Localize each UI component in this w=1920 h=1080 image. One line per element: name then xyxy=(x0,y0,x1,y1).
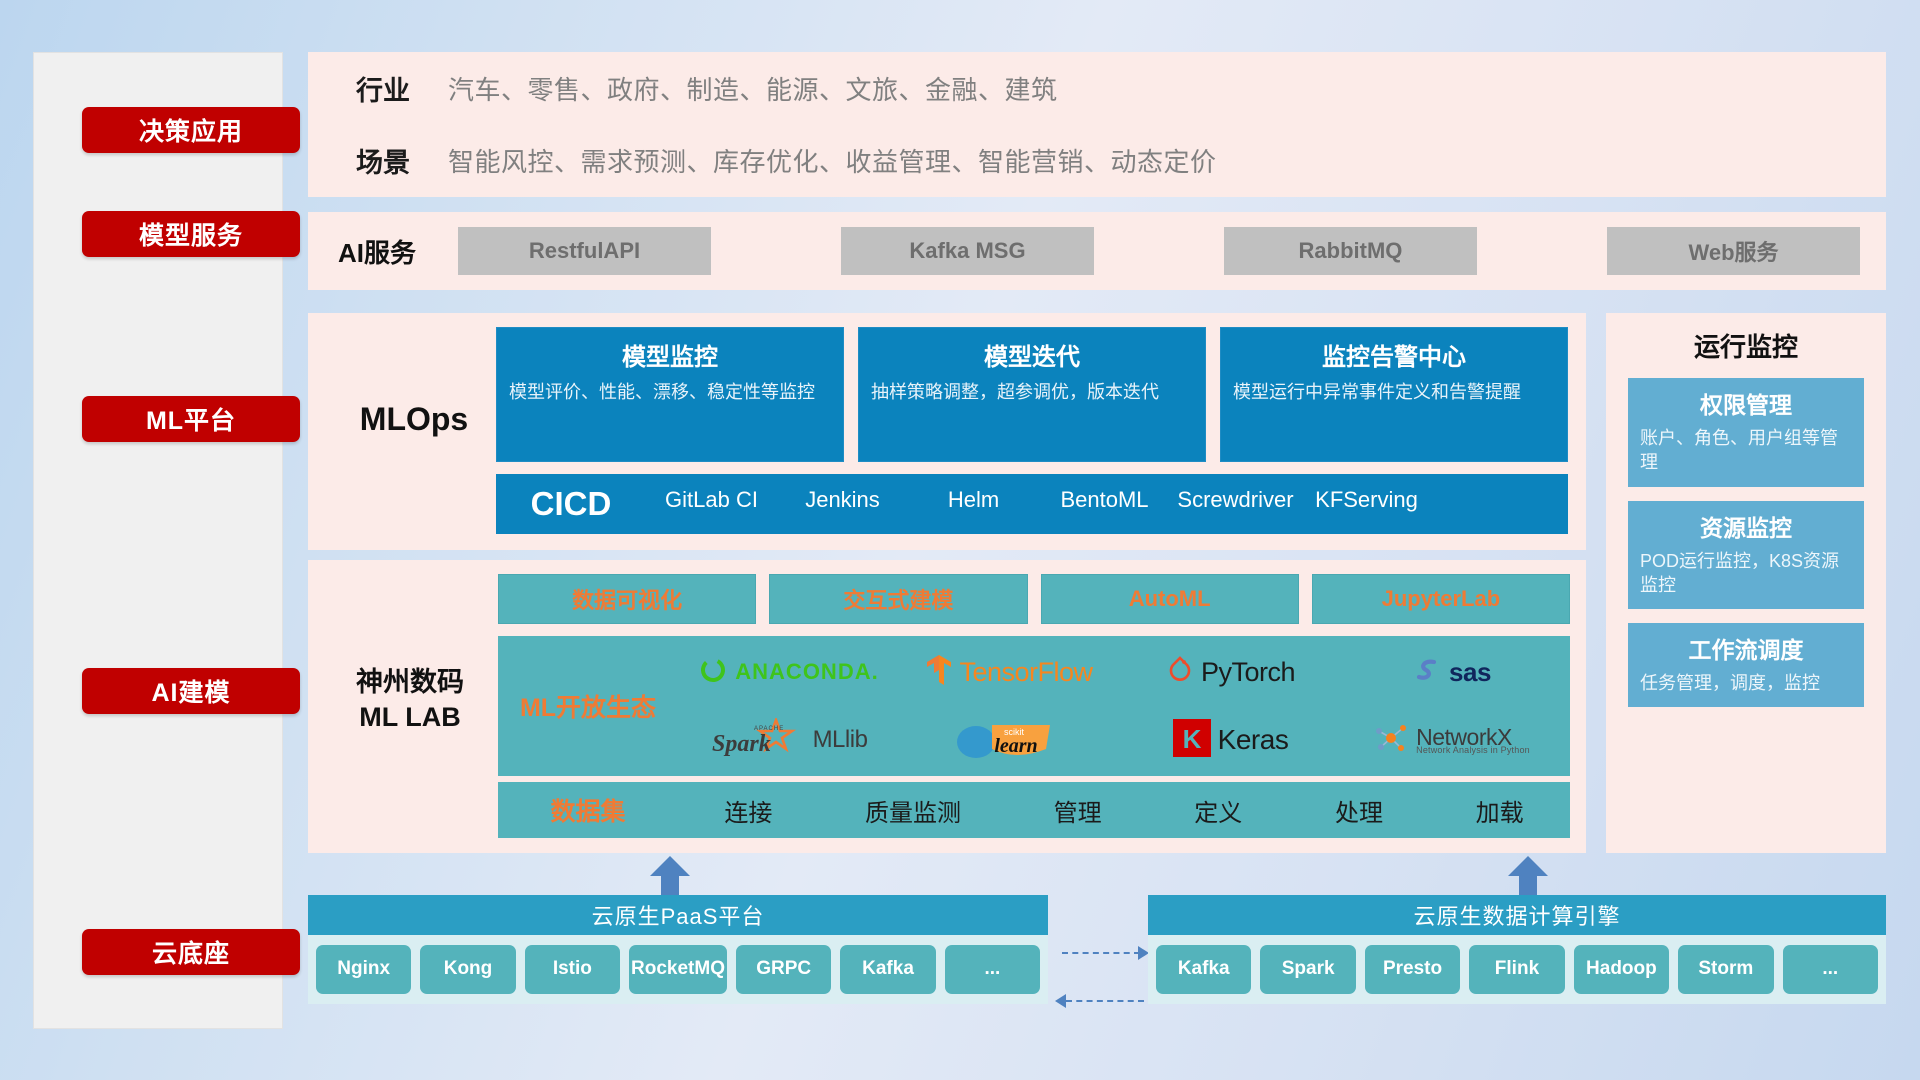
runtime-monitoring-panel: 运行监控 权限管理 账户、角色、用户组等管理 资源监控 POD运行监控，K8S资… xyxy=(1606,313,1886,853)
ai-service-label: AI服务 xyxy=(308,233,458,270)
rail-item-ml-platform[interactable]: ML平台 xyxy=(82,396,300,442)
industry-scenario-band: 行业 汽车、零售、政府、制造、能源、文旅、金融、建筑 场景 智能风控、需求预测、… xyxy=(308,52,1886,197)
dataset-item-connect[interactable]: 连接 xyxy=(724,793,772,828)
pytorch-icon xyxy=(1166,655,1194,690)
rail-item-ai-modeling[interactable]: AI建模 xyxy=(82,668,300,714)
card-desc: 抽样策略调整，超参调优，版本迭代 xyxy=(871,380,1193,404)
mlops-card-model-monitoring[interactable]: 模型监控 模型评价、性能、漂移、稳定性等监控 xyxy=(496,327,844,462)
svg-text:K: K xyxy=(1182,724,1201,754)
ml-lab-label-line2: ML LAB xyxy=(322,700,498,735)
dashed-arrow-left xyxy=(1055,994,1066,1008)
dataset-item-manage[interactable]: 管理 xyxy=(1054,793,1102,828)
chip-presto[interactable]: Presto xyxy=(1365,945,1460,994)
industry-row: 行业 汽车、零售、政府、制造、能源、文旅、金融、建筑 xyxy=(308,52,1886,124)
tensorflow-icon xyxy=(926,654,952,691)
chip-istio[interactable]: Istio xyxy=(525,945,620,994)
ml-ecosystem-label: ML开放生态 xyxy=(498,688,678,724)
pytorch-logo: PyTorch xyxy=(1166,655,1295,690)
card-desc: 模型评价、性能、漂移、稳定性等监控 xyxy=(509,380,831,404)
sas-text: sas xyxy=(1449,657,1491,688)
card-title: 模型迭代 xyxy=(871,337,1193,372)
dataset-item-process[interactable]: 处理 xyxy=(1335,793,1383,828)
spark-icon: APACHE Spark xyxy=(710,718,806,763)
architecture-diagram: 决策应用 模型服务 ML平台 AI建模 云底座 行业 汽车、零售、政府、制造、能… xyxy=(0,0,1920,1080)
card-title: 权限管理 xyxy=(1640,386,1852,420)
cicd-item-helm[interactable]: Helm xyxy=(908,474,1039,514)
cicd-item-bentoml[interactable]: BentoML xyxy=(1039,474,1170,514)
industry-values: 汽车、零售、政府、制造、能源、文旅、金融、建筑 xyxy=(448,70,1058,107)
cicd-row: CICD GitLab CI Jenkins Helm BentoML Scre… xyxy=(496,474,1568,534)
cicd-item-screwdriver[interactable]: Screwdriver xyxy=(1170,474,1301,514)
tab-data-visualization[interactable]: 数据可视化 xyxy=(498,574,756,624)
ai-modeling-band: 神州数码 ML LAB 数据可视化 交互式建模 AutoML JupyterLa… xyxy=(308,560,1586,853)
card-title: 工作流调度 xyxy=(1640,631,1852,665)
svg-text:Spark: Spark xyxy=(712,731,771,757)
spark-mllib-logo: APACHE Spark MLlib xyxy=(710,718,868,763)
dashed-line-right xyxy=(1062,952,1140,954)
dataset-row: 数据集 连接 质量监测 管理 定义 处理 加载 xyxy=(498,782,1570,838)
ml-lab-label-line1: 神州数码 xyxy=(322,665,498,700)
anaconda-text: ANACONDA. xyxy=(735,659,878,685)
ml-ecosystem-logo-group: ANACONDA. TensorFlow xyxy=(678,638,1570,774)
chip-hadoop[interactable]: Hadoop xyxy=(1574,945,1669,994)
card-desc: 任务管理，调度，监控 xyxy=(1640,671,1852,695)
networkx-tagline: Network Analysis in Python xyxy=(1416,746,1530,755)
keras-logo: K Keras xyxy=(1173,719,1289,762)
card-desc: 账户、角色、用户组等管理 xyxy=(1640,426,1852,475)
dataset-label: 数据集 xyxy=(498,792,678,828)
service-box-rabbitmq[interactable]: RabbitMQ xyxy=(1224,227,1477,275)
chip-rocketmq[interactable]: RocketMQ xyxy=(629,945,727,994)
industry-label: 行业 xyxy=(308,69,448,108)
ai-service-box-group: RestfulAPI Kafka MSG RabbitMQ Web服务 xyxy=(458,227,1886,275)
networkx-icon xyxy=(1373,721,1409,760)
scikit-learn-logo: scikit learn xyxy=(954,715,1066,766)
chip-flink[interactable]: Flink xyxy=(1469,945,1564,994)
cloud-paas-chip-group: Nginx Kong Istio RocketMQ GRPC Kafka ... xyxy=(308,935,1048,1004)
scenario-label: 场景 xyxy=(308,141,448,180)
dataset-item-quality[interactable]: 质量监测 xyxy=(865,793,961,828)
cicd-item-gitlab-ci[interactable]: GitLab CI xyxy=(646,474,777,514)
card-desc: POD运行监控，K8S资源监控 xyxy=(1640,549,1852,598)
cicd-item-jenkins[interactable]: Jenkins xyxy=(777,474,908,514)
cicd-label: CICD xyxy=(496,474,646,534)
mlops-card-alert-center[interactable]: 监控告警中心 模型运行中异常事件定义和告警提醒 xyxy=(1220,327,1568,462)
scenario-values: 智能风控、需求预测、库存优化、收益管理、智能营销、动态定价 xyxy=(448,142,1217,179)
keras-icon: K xyxy=(1173,719,1211,762)
rail-item-decision-app[interactable]: 决策应用 xyxy=(82,107,300,153)
dataset-item-group: 连接 质量监测 管理 定义 处理 加载 xyxy=(678,793,1570,828)
monitor-card-permission[interactable]: 权限管理 账户、角色、用户组等管理 xyxy=(1628,378,1864,487)
chip-grpc[interactable]: GRPC xyxy=(736,945,831,994)
monitor-card-workflow[interactable]: 工作流调度 任务管理，调度，监控 xyxy=(1628,623,1864,707)
tab-interactive-modeling[interactable]: 交互式建模 xyxy=(769,574,1027,624)
sas-icon xyxy=(1412,655,1442,690)
chip-more[interactable]: ... xyxy=(945,945,1040,994)
ai-service-band: AI服务 RestfulAPI Kafka MSG RabbitMQ Web服务 xyxy=(308,212,1886,290)
mlops-card-model-iteration[interactable]: 模型迭代 抽样策略调整，超参调优，版本迭代 xyxy=(858,327,1206,462)
cloud-paas-column: 云原生PaaS平台 Nginx Kong Istio RocketMQ GRPC… xyxy=(308,895,1048,1004)
cicd-item-kfserving[interactable]: KFServing xyxy=(1301,474,1432,514)
mllib-text: MLlib xyxy=(813,726,868,754)
chip-kafka[interactable]: Kafka xyxy=(840,945,935,994)
runtime-monitoring-title: 运行监控 xyxy=(1606,313,1886,364)
cloud-data-engine-chip-group: Kafka Spark Presto Flink Hadoop Storm ..… xyxy=(1148,935,1886,1004)
chip-kong[interactable]: Kong xyxy=(420,945,515,994)
chip-storm[interactable]: Storm xyxy=(1678,945,1773,994)
mlops-band: MLOps 模型监控 模型评价、性能、漂移、稳定性等监控 模型迭代 抽样策略调整… xyxy=(308,313,1586,550)
chip-nginx[interactable]: Nginx xyxy=(316,945,411,994)
card-title: 模型监控 xyxy=(509,337,831,372)
mlops-card-group: 模型监控 模型评价、性能、漂移、稳定性等监控 模型迭代 抽样策略调整，超参调优，… xyxy=(496,327,1568,462)
ml-lab-label: 神州数码 ML LAB xyxy=(322,665,498,735)
cloud-paas-title: 云原生PaaS平台 xyxy=(308,895,1048,935)
monitor-card-resource[interactable]: 资源监控 POD运行监控，K8S资源监控 xyxy=(1628,501,1864,610)
scikit-learn-icon: scikit learn xyxy=(954,715,1066,766)
chip-spark[interactable]: Spark xyxy=(1260,945,1355,994)
chip-more[interactable]: ... xyxy=(1783,945,1878,994)
ml-ecosystem-row: ML开放生态 ANACONDA. Tenso xyxy=(498,636,1570,776)
card-desc: 模型运行中异常事件定义和告警提醒 xyxy=(1233,380,1555,404)
keras-text: Keras xyxy=(1218,724,1289,756)
rail-item-model-service[interactable]: 模型服务 xyxy=(82,211,300,257)
cloud-data-engine-column: 云原生数据计算引擎 Kafka Spark Presto Flink Hadoo… xyxy=(1148,895,1886,1004)
tab-automl[interactable]: AutoML xyxy=(1041,574,1299,624)
tensorflow-logo: TensorFlow xyxy=(926,654,1092,691)
service-box-kafka-msg[interactable]: Kafka MSG xyxy=(841,227,1094,275)
chip-kafka[interactable]: Kafka xyxy=(1156,945,1251,994)
svg-text:learn: learn xyxy=(994,735,1037,757)
tensorflow-text: TensorFlow xyxy=(959,657,1092,688)
service-box-restfulapi[interactable]: RestfulAPI xyxy=(458,227,711,275)
tab-jupyterlab[interactable]: JupyterLab xyxy=(1312,574,1570,624)
pytorch-text: PyTorch xyxy=(1201,657,1295,688)
sas-logo: sas xyxy=(1412,655,1491,690)
dashed-line-left xyxy=(1066,1000,1144,1002)
service-box-web[interactable]: Web服务 xyxy=(1607,227,1860,275)
anaconda-logo: ANACONDA. xyxy=(698,655,878,690)
cloud-data-engine-title: 云原生数据计算引擎 xyxy=(1148,895,1886,935)
dataset-item-define[interactable]: 定义 xyxy=(1194,793,1242,828)
anaconda-icon xyxy=(698,655,728,690)
mlops-label: MLOps xyxy=(334,401,494,438)
card-title: 资源监控 xyxy=(1640,509,1852,543)
dataset-item-load[interactable]: 加载 xyxy=(1476,793,1524,828)
card-title: 监控告警中心 xyxy=(1233,337,1555,372)
ai-modeling-tab-group: 数据可视化 交互式建模 AutoML JupyterLab xyxy=(498,574,1570,624)
scenario-row: 场景 智能风控、需求预测、库存优化、收益管理、智能营销、动态定价 xyxy=(308,124,1886,196)
left-rail: 决策应用 模型服务 ML平台 AI建模 云底座 xyxy=(33,52,283,1029)
rail-item-cloud-base[interactable]: 云底座 xyxy=(82,929,300,975)
networkx-logo: NetworkX Network Analysis in Python xyxy=(1373,721,1530,760)
